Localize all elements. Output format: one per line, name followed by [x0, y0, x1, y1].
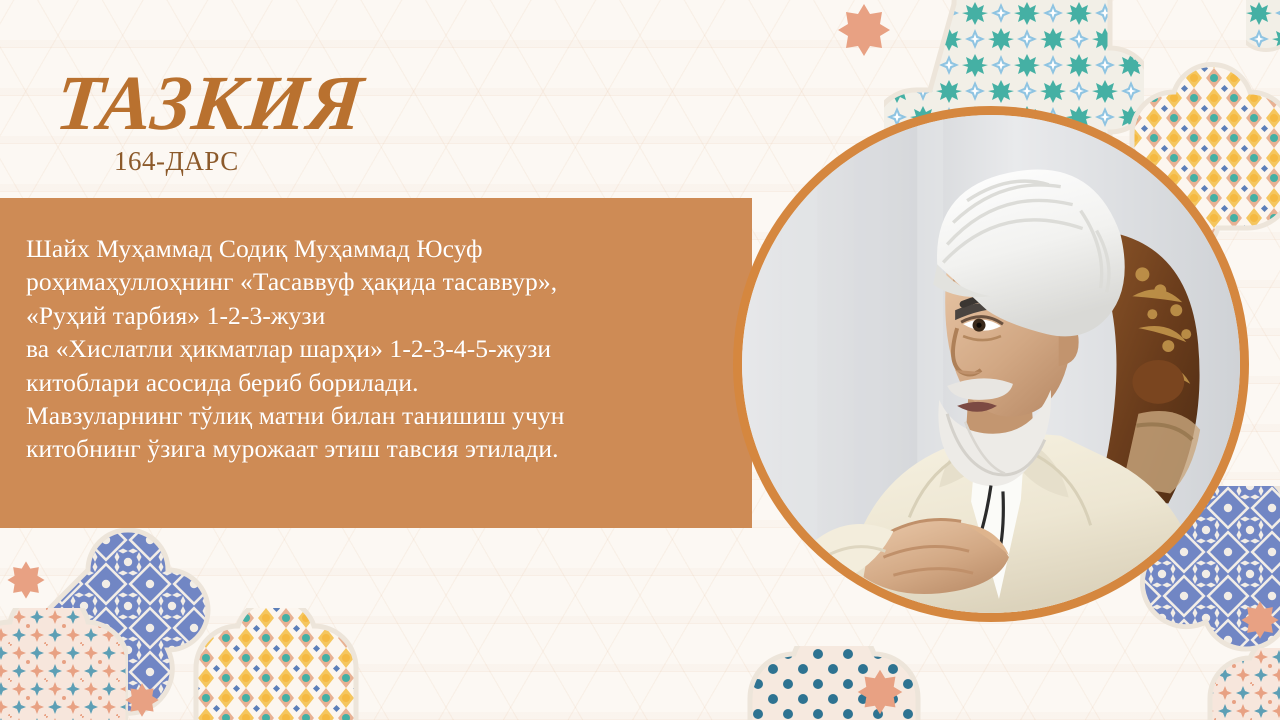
portrait-photo	[742, 115, 1240, 613]
salmon-starburst-icon-b	[856, 668, 904, 716]
steel-dot-tile-bottom	[690, 646, 1020, 720]
description-text: Шайх Муҳаммад Содиқ Муҳаммад Юсуф роҳима…	[26, 232, 726, 466]
salmon-starburst-icon-c	[6, 560, 46, 600]
teal-rosette-top-right	[1246, 0, 1280, 70]
diamond-tile-bottom-center	[156, 608, 386, 720]
blush-tile-bottom-left	[0, 608, 128, 720]
slide-canvas: Тазкия 164-ДАРС Шайх Муҳаммад Содиқ Муҳа…	[0, 0, 1280, 720]
salmon-starburst-icon-e	[1240, 600, 1280, 640]
lesson-subtitle: 164-ДАРС	[114, 146, 472, 177]
page-title: Тазкия	[52, 62, 481, 144]
salmon-starburst-icon-d	[124, 682, 160, 718]
title-block: Тазкия 164-ДАРС	[52, 62, 472, 177]
portrait-circle	[733, 106, 1249, 622]
salmon-starburst-icon-a	[836, 2, 892, 58]
blush-tile-bottom-far-right	[1180, 648, 1280, 720]
